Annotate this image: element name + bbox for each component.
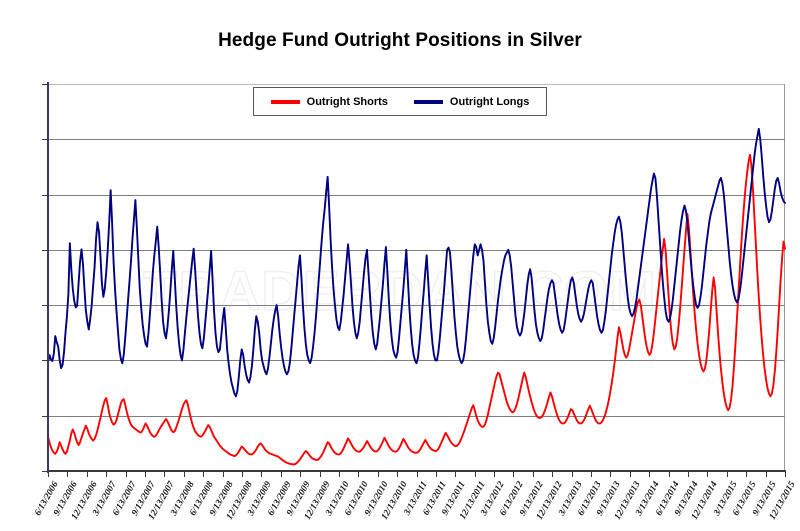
x-axis-tick-mark [223,471,224,477]
x-axis-tick-mark [455,471,456,477]
x-axis-tick-mark [572,471,573,477]
x-axis-tick-mark [669,471,670,477]
x-axis-tick-mark [87,471,88,477]
x-axis-tick-mark [494,471,495,477]
x-axis-tick-mark [145,471,146,477]
x-axis-tick-mark [320,471,321,477]
chart-legend: Outright Shorts Outright Longs [253,87,547,116]
x-axis-tick-mark [649,471,650,477]
x-axis-tick-mark [475,471,476,477]
x-axis-tick-mark [339,471,340,477]
x-axis-tick-mark [513,471,514,477]
x-axis-tick-mark [48,471,49,477]
x-axis-tick-mark [610,471,611,477]
x-axis-tick-mark [106,471,107,477]
legend-label-longs: Outright Longs [450,96,529,108]
x-axis-tick-mark [436,471,437,477]
legend-swatch-shorts [271,100,300,104]
x-axis-tick-mark [417,471,418,477]
x-axis-tick-mark [300,471,301,477]
x-axis-tick-mark [126,471,127,477]
x-axis-tick-mark [397,471,398,477]
x-axis-tick-mark [203,471,204,477]
x-axis-tick-mark [591,471,592,477]
x-axis-tick-mark [164,471,165,477]
x-axis-tick-mark [261,471,262,477]
x-axis-tick-mark [746,471,747,477]
x-axis-labels: 6/13/20069/13/200612/13/20063/13/20076/1… [0,0,800,531]
x-axis-tick-mark [688,471,689,477]
x-axis-tick-mark [533,471,534,477]
x-axis-tick-mark [727,471,728,477]
x-axis-tick-mark [358,471,359,477]
x-axis-tick-mark [766,471,767,477]
x-axis-tick-mark [630,471,631,477]
legend-item-shorts[interactable]: Outright Shorts [271,96,388,108]
x-axis-tick-mark [184,471,185,477]
chart-container: Hedge Fund Outright Positions in Silver … [0,0,800,531]
x-axis-tick-mark [281,471,282,477]
x-axis-tick-mark [242,471,243,477]
x-axis-tick-mark [785,471,786,477]
legend-swatch-longs [414,100,443,104]
x-axis-tick-mark [378,471,379,477]
legend-item-longs[interactable]: Outright Longs [414,96,529,108]
x-axis-tick-mark [67,471,68,477]
x-axis-tick-mark [552,471,553,477]
x-axis-tick-mark [707,471,708,477]
legend-label-shorts: Outright Shorts [307,96,388,108]
